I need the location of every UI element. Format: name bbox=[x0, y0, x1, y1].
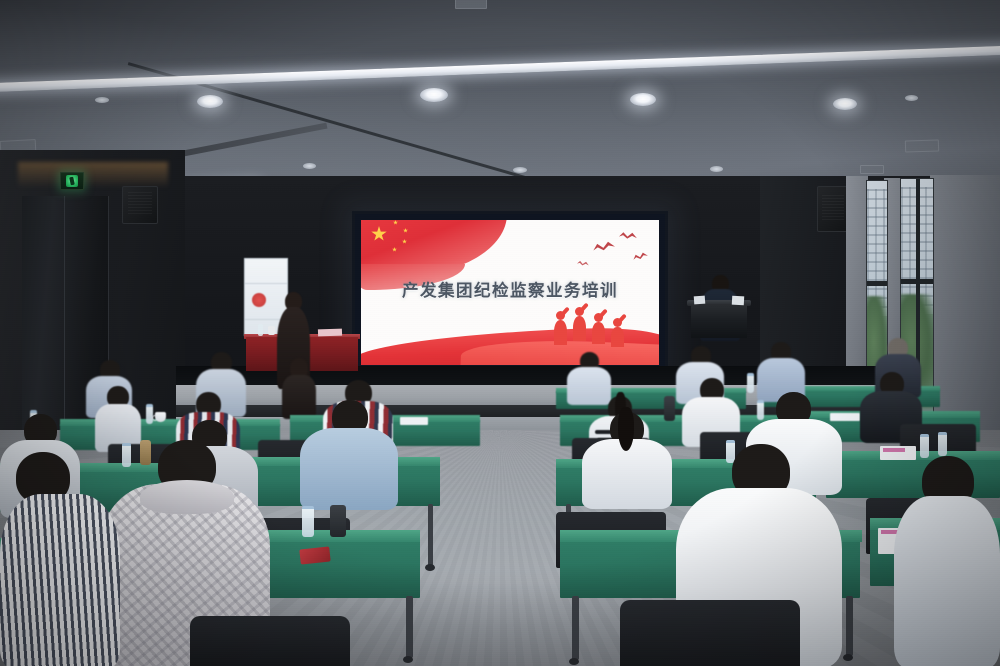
water-bottle bbox=[920, 434, 929, 458]
attendee bbox=[894, 456, 1000, 666]
conference-room-photo: 产发集团纪检监察业务培训 bbox=[0, 0, 1000, 666]
flag-star-small bbox=[402, 239, 407, 244]
bird-icon bbox=[577, 260, 590, 268]
water-bottle bbox=[747, 373, 754, 393]
thermos bbox=[330, 505, 346, 537]
bird-icon bbox=[619, 231, 638, 242]
saluting-silhouette-icon bbox=[611, 327, 624, 347]
table-leg bbox=[572, 596, 579, 660]
ceiling-downlight bbox=[905, 95, 918, 101]
attendee bbox=[582, 412, 672, 504]
chair bbox=[190, 616, 350, 666]
window-mullion bbox=[867, 281, 887, 286]
attendee bbox=[0, 452, 120, 666]
flipchart-line bbox=[245, 283, 287, 284]
flag-star-small bbox=[392, 247, 397, 252]
bird-icon bbox=[632, 251, 648, 262]
podium bbox=[691, 304, 747, 338]
projection-screen: 产发集团纪检监察业务培训 bbox=[352, 211, 668, 374]
chair bbox=[620, 600, 800, 666]
ceiling-air-vent bbox=[455, 0, 487, 9]
ceiling-downlight bbox=[197, 95, 223, 108]
ceiling-downlight bbox=[95, 97, 109, 103]
saluting-silhouette-icon bbox=[592, 322, 605, 344]
water-bottle bbox=[146, 404, 153, 424]
table-row bbox=[248, 540, 420, 598]
attendee-body bbox=[894, 496, 1000, 666]
left-wall-cove-light bbox=[18, 162, 168, 188]
attendee bbox=[95, 386, 141, 448]
water-bottle bbox=[258, 324, 263, 336]
ceiling-downlight bbox=[630, 93, 656, 106]
smartphone[interactable] bbox=[299, 546, 330, 564]
saluting-silhouette-icon bbox=[554, 320, 567, 345]
ceiling-downlight bbox=[303, 163, 316, 169]
papers bbox=[732, 296, 744, 306]
flag-star-small bbox=[403, 228, 408, 233]
presentation-slide: 产发集团纪检监察业务培训 bbox=[361, 220, 659, 365]
teacup bbox=[268, 326, 275, 335]
attendee-body bbox=[300, 428, 398, 510]
wall-speaker-icon bbox=[817, 186, 849, 232]
saluting-silhouette-icon bbox=[573, 316, 586, 341]
water-bottle bbox=[302, 506, 314, 537]
running-man-icon bbox=[66, 175, 78, 187]
table-leg bbox=[428, 504, 433, 566]
papers bbox=[694, 296, 706, 305]
table-leg bbox=[846, 596, 853, 656]
papers bbox=[400, 417, 428, 425]
flag-star-large bbox=[371, 226, 387, 242]
water-bottle bbox=[938, 432, 947, 456]
chinese-flag-graphic bbox=[361, 220, 507, 276]
wall-speaker-icon bbox=[122, 186, 158, 224]
exit-sign bbox=[60, 172, 84, 190]
ponytail bbox=[618, 407, 634, 451]
table-leg bbox=[406, 596, 413, 658]
bird-icon bbox=[592, 240, 615, 254]
ceiling-downlight bbox=[513, 167, 527, 173]
ceiling-downlight bbox=[833, 98, 857, 110]
hood bbox=[140, 480, 234, 514]
ceiling-downlight bbox=[710, 166, 723, 172]
ceiling-air-vent bbox=[860, 165, 884, 174]
slide-title: 产发集团纪检监察业务培训 bbox=[361, 277, 659, 301]
flag-star-small bbox=[393, 220, 398, 225]
ceiling-air-vent bbox=[905, 139, 939, 152]
attendee-body bbox=[0, 494, 120, 666]
attendee bbox=[567, 352, 611, 402]
papers bbox=[318, 329, 342, 337]
ceiling-downlight bbox=[420, 88, 448, 102]
attendee bbox=[300, 400, 398, 506]
